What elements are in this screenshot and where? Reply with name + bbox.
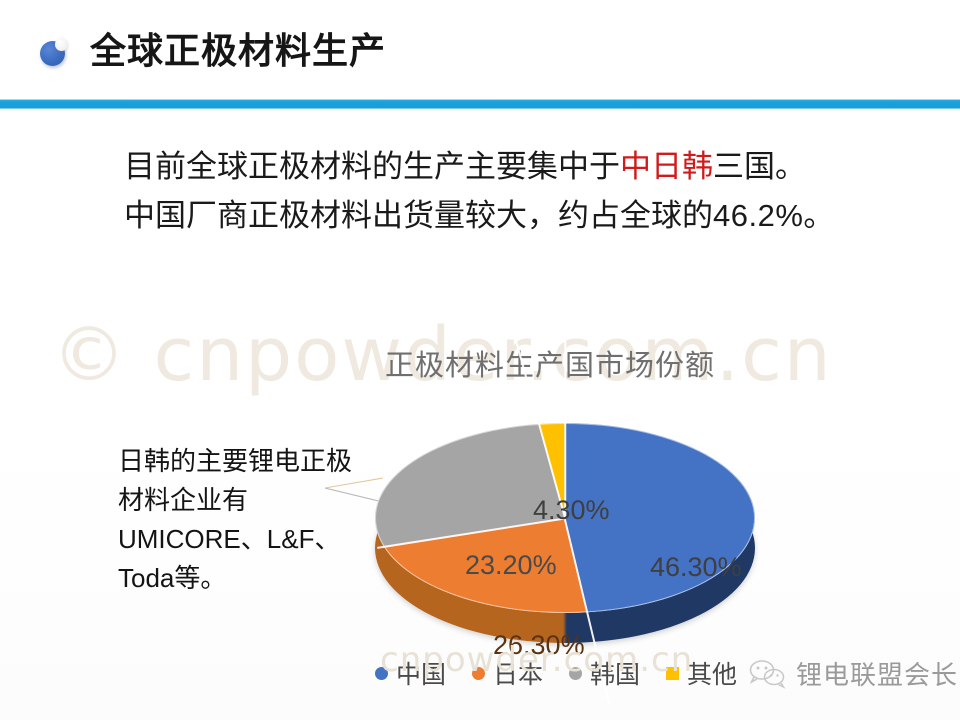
chart-title: 正极材料生产国市场份额 bbox=[385, 342, 715, 384]
wechat-icon bbox=[748, 659, 786, 689]
body-paragraph: 目前全球正极材料的生产主要集中于中日韩三国。 中国厂商正极材料出货量较大，约占全… bbox=[124, 142, 854, 240]
annotation-textbox: 日韩的主要锂电正极材料企业有UMICORE、L&F、Toda等。 bbox=[118, 442, 358, 598]
header-divider-shadow bbox=[0, 108, 960, 111]
legend-swatch-korea bbox=[569, 667, 582, 680]
chart-legend: 中国 日本 韩国 其他 bbox=[375, 655, 737, 691]
legend-item-other[interactable]: 其他 bbox=[666, 655, 737, 691]
footer-brand-name: 锂电联盟会长 bbox=[796, 655, 958, 692]
slide-canvas: 全球正极材料生产 © cnpowder.com.cn 目前全球正极材料的生产主要… bbox=[0, 0, 960, 720]
legend-item-china[interactable]: 中国 bbox=[375, 655, 446, 691]
pie-chart: 正极材料生产国市场份额 日韩的主要锂电正极材料企业有UMICORE、L&F、To… bbox=[110, 330, 870, 700]
legend-label-korea: 韩国 bbox=[590, 655, 640, 691]
legend-swatch-japan bbox=[472, 667, 485, 680]
slide-header: 全球正极材料生产 bbox=[0, 0, 960, 100]
legend-item-japan[interactable]: 日本 bbox=[472, 655, 543, 691]
legend-item-korea[interactable]: 韩国 bbox=[569, 655, 640, 691]
legend-label-japan: 日本 bbox=[493, 655, 543, 691]
legend-label-china: 中国 bbox=[396, 655, 446, 691]
body-line2-part1: 中国厂商正极材料出货量较大，约占全球的 bbox=[124, 198, 713, 233]
legend-swatch-other bbox=[666, 667, 679, 680]
body-line2-part2: 。 bbox=[803, 198, 834, 233]
body-highlight-countries: 中日韩 bbox=[620, 149, 713, 184]
body-line1-part2: 三国。 bbox=[713, 149, 806, 184]
body-line1-part1: 目前全球正极材料的生产主要集中于 bbox=[124, 149, 620, 184]
footer-brand: 锂电联盟会长 bbox=[748, 655, 958, 692]
pie-graphic: 46.30% 26.30% 23.20% 4.30% bbox=[365, 413, 765, 673]
page-title: 全球正极材料生产 bbox=[90, 27, 386, 75]
pie-label-korea: 23.20% bbox=[465, 550, 557, 581]
body-share-value: 46.2% bbox=[713, 198, 803, 233]
legend-swatch-china bbox=[375, 667, 388, 680]
blue-circle-bullet-icon bbox=[40, 38, 70, 68]
legend-label-other: 其他 bbox=[687, 655, 737, 691]
pie-label-china: 46.30% bbox=[650, 552, 742, 583]
pie-label-other: 4.30% bbox=[533, 495, 610, 526]
